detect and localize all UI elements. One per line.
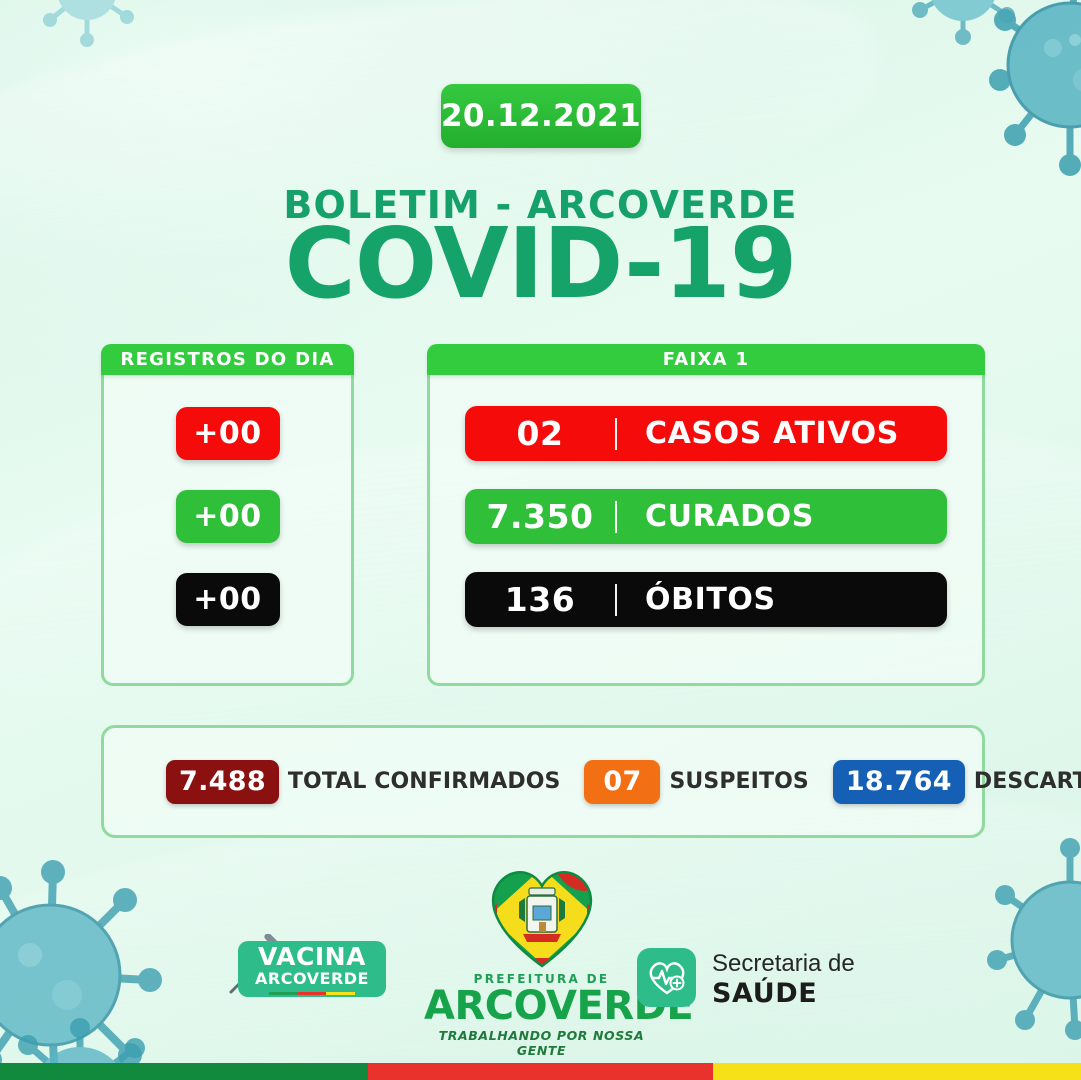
daily-records-header: REGISTROS DO DIA [101, 344, 354, 375]
total-confirmed-badge: 7.488 [166, 760, 279, 804]
covid-bulletin-poster: 20.12.2021 BOLETIM - ARCOVERDE COVID-19 … [0, 0, 1081, 1080]
daily-deaths-pill: +00 [176, 573, 280, 626]
city-logo-name: ARCOVERDE [424, 986, 659, 1026]
date-badge: 20.12.2021 [441, 84, 641, 148]
deaths-value: 136 [465, 580, 615, 619]
discarded-item: 18.764 DESCARTADOS [833, 760, 1081, 804]
virus-icon-bottom-right [975, 830, 1081, 1040]
deaths-row: 136 ÓBITOS [465, 572, 947, 627]
arcoverde-heart-crest-icon [424, 862, 659, 970]
strip-segment-green [0, 1063, 368, 1080]
row-separator [615, 501, 617, 533]
row-separator [615, 418, 617, 450]
suspected-value: 07 [603, 766, 641, 797]
active-cases-row: 02 CASOS ATIVOS [465, 406, 947, 461]
suspected-label: SUSPEITOS [669, 769, 808, 794]
daily-active-cases-pill: +00 [176, 407, 280, 460]
faixa-heading: FAIXA 1 [663, 349, 750, 370]
discarded-value: 18.764 [846, 766, 952, 797]
daily-records-body: +00 +00 +00 [101, 374, 354, 686]
vaccine-badge-line1: VACINA [258, 944, 366, 969]
discarded-badge: 18.764 [833, 760, 965, 804]
city-logo-slogan: TRABALHANDO POR NOSSA GENTE [424, 1028, 659, 1058]
total-confirmed-value: 7.488 [179, 766, 266, 797]
daily-recovered-value: +00 [193, 499, 261, 534]
recovered-value: 7.350 [465, 497, 615, 536]
virus-icon-bottom-left-large [0, 860, 185, 1080]
active-cases-value: 02 [465, 414, 615, 453]
strip-segment-red [368, 1063, 714, 1080]
total-confirmed-label: TOTAL CONFIRMADOS [288, 769, 561, 794]
faixa-header: FAIXA 1 [427, 344, 985, 375]
date-text: 20.12.2021 [441, 98, 641, 134]
active-cases-label: CASOS ATIVOS [617, 416, 947, 451]
daily-records-panel: REGISTROS DO DIA +00 +00 +00 [101, 344, 354, 687]
deaths-label: ÓBITOS [617, 582, 947, 617]
daily-active-cases-value: +00 [193, 416, 261, 451]
suspected-badge: 07 [584, 760, 660, 804]
daily-deaths-value: +00 [193, 582, 261, 617]
daily-records-heading: REGISTROS DO DIA [120, 349, 334, 370]
vaccine-badge-line2: ARCOVERDE [255, 969, 369, 989]
row-separator [615, 584, 617, 616]
total-confirmed-item: 7.488 TOTAL CONFIRMADOS [166, 760, 560, 804]
suspected-item: 07 SUSPEITOS [584, 760, 808, 804]
recovered-row: 7.350 CURADOS [465, 489, 947, 544]
heart-pulse-icon [637, 948, 696, 1007]
discarded-label: DESCARTADOS [974, 769, 1081, 794]
strip-segment-yellow [713, 1063, 1081, 1080]
faixa-body: 02 CASOS ATIVOS 7.350 CURADOS 136 ÓBITOS [427, 374, 985, 686]
vaccine-badge-underline [269, 992, 355, 995]
health-dept-line1: Secretaria de [712, 950, 855, 978]
recovered-label: CURADOS [617, 499, 947, 534]
virus-icon-top-left [35, 0, 145, 55]
page-title: COVID-19 [0, 213, 1081, 315]
health-dept-text: Secretaria de SAÚDE [712, 950, 855, 1009]
daily-recovered-pill: +00 [176, 490, 280, 543]
footer-color-strip [0, 1063, 1081, 1080]
health-dept-line2: SAÚDE [712, 978, 855, 1009]
faixa-panel: FAIXA 1 02 CASOS ATIVOS 7.350 CURADOS 13… [427, 344, 985, 687]
vaccine-badge: VACINA ARCOVERDE [238, 941, 386, 997]
virus-icon-top-right-large [975, 0, 1081, 190]
city-logo: PREFEITURA DE ARCOVERDE TRABALHANDO POR … [424, 862, 659, 1058]
totals-panel: 7.488 TOTAL CONFIRMADOS 07 SUSPEITOS 18.… [101, 725, 985, 838]
virus-icon-top-right-small [905, 0, 1025, 55]
